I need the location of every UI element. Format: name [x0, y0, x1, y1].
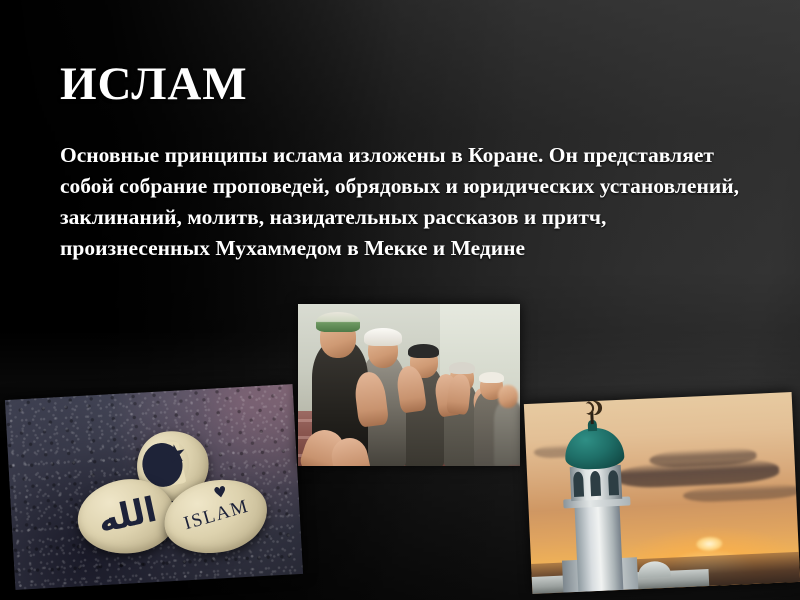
allah-arabic-text: الله: [87, 482, 169, 552]
white-turban: [364, 328, 402, 346]
photo-islam-stones-content: الله ♥ ISLAM: [5, 384, 303, 590]
worshipper-head: [498, 385, 518, 408]
photo-mosque-minaret-sunset: [524, 392, 800, 594]
page-title: ИСЛАМ: [60, 60, 248, 109]
minaret-gallery: [570, 464, 622, 500]
prayer-cap: [449, 362, 475, 374]
photo-men-praying-content: [298, 304, 520, 466]
green-prayer-cap: [316, 312, 360, 332]
photo-islam-stones: الله ♥ ISLAM: [5, 384, 303, 590]
gallery-arch: [607, 470, 618, 495]
minaret-shaft: [574, 503, 623, 592]
gallery-arch: [573, 472, 584, 497]
photo-men-praying: [298, 304, 520, 466]
heart-icon: ♥: [212, 484, 229, 500]
prayer-cap: [408, 344, 439, 358]
body-paragraph: Основные принципы ислама изложены в Кора…: [60, 140, 740, 264]
worshipper-far: [494, 400, 520, 466]
prayer-cap: [479, 372, 504, 383]
gallery-arch: [590, 471, 601, 496]
photo-mosque-minaret-content: [524, 392, 800, 594]
presentation-slide: ИСЛАМ Основные принципы ислама изложены …: [0, 0, 800, 600]
